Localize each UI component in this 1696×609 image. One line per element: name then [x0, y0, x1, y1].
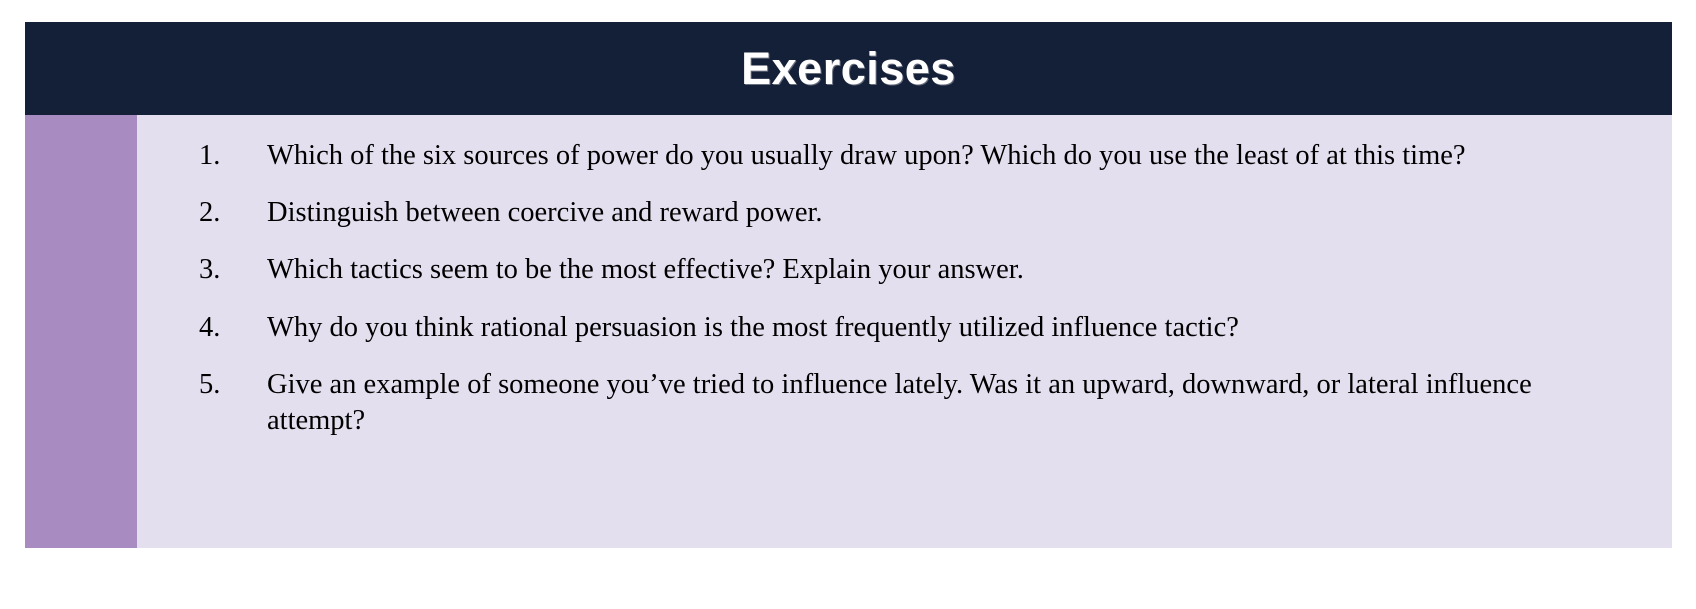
list-item-number: 1.: [199, 138, 243, 174]
list-item-text: Which of the six sources of power do you…: [267, 138, 1577, 174]
list-item-number: 3.: [199, 252, 243, 288]
list-item-text: Why do you think rational persuasion is …: [267, 310, 1577, 346]
list-item-text: Give an example of someone you’ve tried …: [267, 367, 1577, 439]
list-item: 2. Distinguish between coercive and rewa…: [199, 195, 1612, 231]
list-item-text: Which tactics seem to be the most effect…: [267, 252, 1577, 288]
exercise-content: 1. Which of the six sources of power do …: [137, 115, 1672, 548]
exercise-list: 1. Which of the six sources of power do …: [199, 138, 1612, 439]
list-item-text: Distinguish between coercive and reward …: [267, 195, 1577, 231]
slide-title-bar: Exercises: [25, 22, 1672, 115]
list-item-number: 4.: [199, 310, 243, 346]
list-item: 1. Which of the six sources of power do …: [199, 138, 1612, 174]
list-item-number: 5.: [199, 367, 243, 403]
list-item: 5. Give an example of someone you’ve tri…: [199, 367, 1612, 439]
list-item: 3. Which tactics seem to be the most eff…: [199, 252, 1612, 288]
list-item: 4. Why do you think rational persuasion …: [199, 310, 1612, 346]
page-title: Exercises: [741, 46, 956, 91]
slide-body: 1. Which of the six sources of power do …: [25, 115, 1672, 548]
left-accent-bar: [25, 115, 137, 548]
slide: Exercises 1. Which of the six sources of…: [25, 22, 1672, 548]
list-item-number: 2.: [199, 195, 243, 231]
